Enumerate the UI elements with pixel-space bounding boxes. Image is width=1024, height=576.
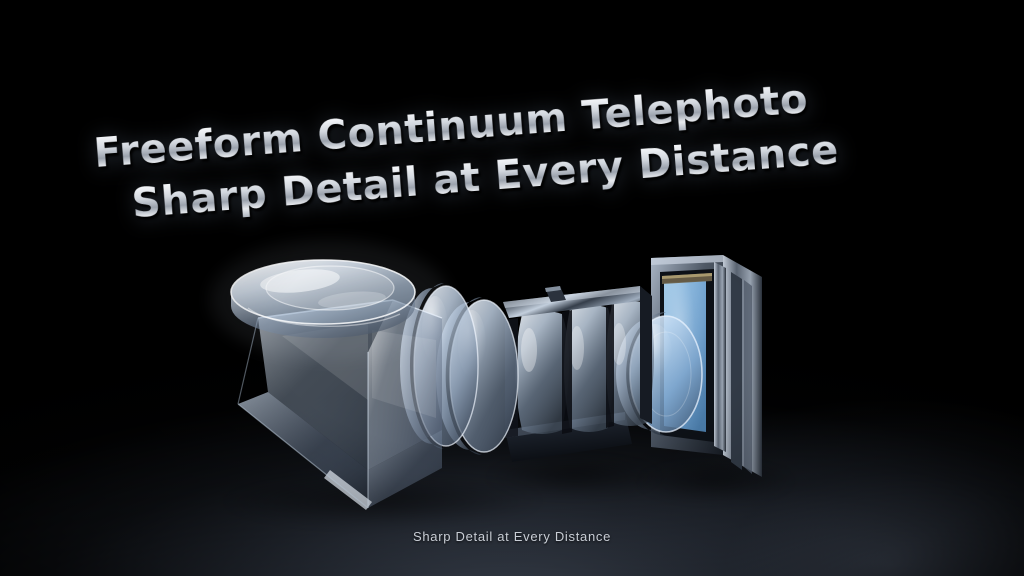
background-vignette [0,0,1024,576]
caption-text: Sharp Detail at Every Distance [0,529,1024,544]
promo-scene: Freeform Continuum Telephoto Sharp Detai… [0,0,1024,576]
